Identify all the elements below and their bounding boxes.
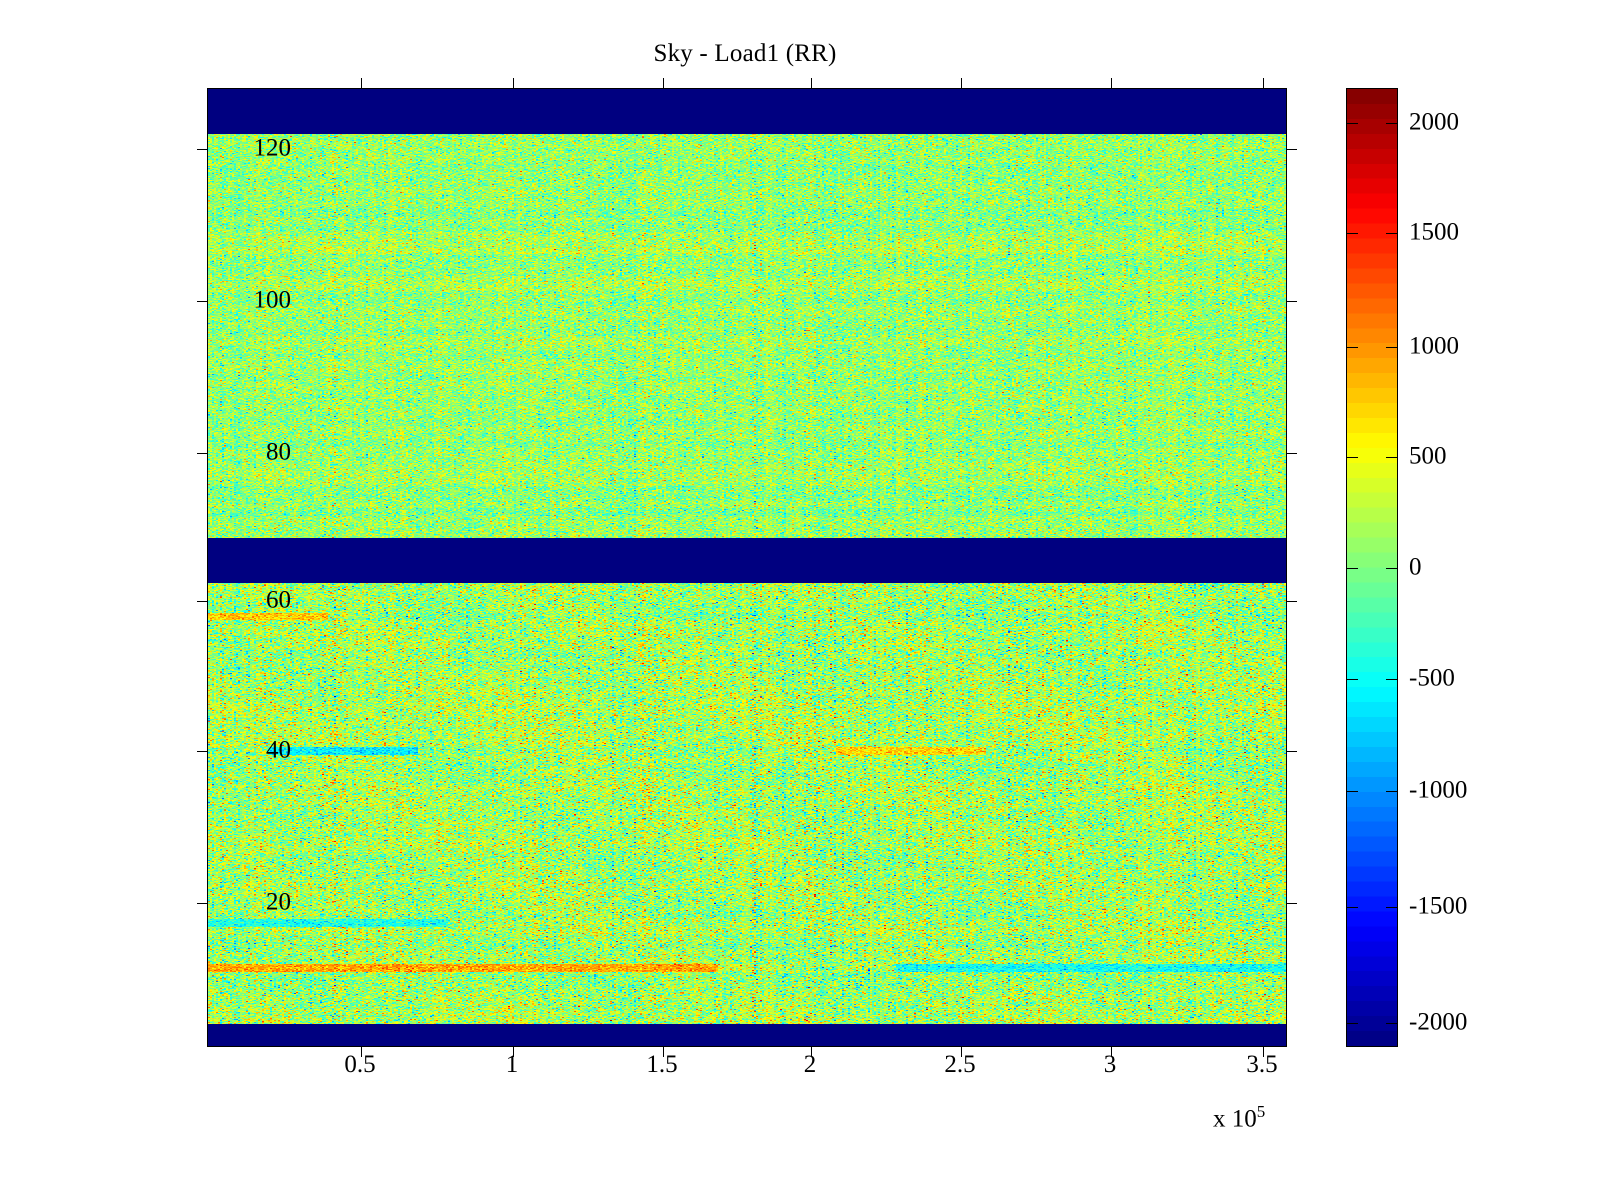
- colorbar-tick-mark: [1347, 233, 1358, 234]
- y-tick-mark-right: [1286, 149, 1297, 150]
- colorbar-tick-mark-right: [1386, 791, 1397, 792]
- colorbar-tick-label: -500: [1409, 666, 1455, 691]
- x-tick-mark-top: [811, 78, 812, 89]
- x-axis-exponent-label: x 105: [1213, 1103, 1265, 1131]
- y-tick-mark-right: [1286, 903, 1297, 904]
- x-tick-mark-top: [663, 78, 664, 89]
- colorbar-tick-mark: [1347, 347, 1358, 348]
- colorbar-tick-mark: [1347, 907, 1358, 908]
- plot-title: Sky - Load1 (RR): [0, 41, 1490, 66]
- heatmap-pixels: [208, 89, 1286, 1046]
- y-tick-label: 100: [254, 288, 292, 313]
- y-tick-mark: [197, 751, 208, 752]
- colorbar-tick-mark-right: [1386, 457, 1397, 458]
- colorbar-tick-mark-right: [1386, 233, 1397, 234]
- x-tick-label: 1: [506, 1052, 519, 1077]
- y-tick-mark-right: [1286, 453, 1297, 454]
- y-tick-label: 120: [254, 136, 292, 161]
- x-tick-mark-top: [1263, 78, 1264, 89]
- colorbar-tick-mark: [1347, 679, 1358, 680]
- colorbar-tick-mark-right: [1386, 907, 1397, 908]
- x-tick-label: 1.5: [646, 1052, 677, 1077]
- x-tick-label: 0.5: [344, 1052, 375, 1077]
- y-tick-mark: [197, 601, 208, 602]
- colorbar-tick-label: 2000: [1409, 110, 1459, 135]
- x-tick-label: 2.5: [944, 1052, 975, 1077]
- y-tick-label: 60: [266, 588, 291, 613]
- colorbar-tick-label: 1000: [1409, 334, 1459, 359]
- heatmap-image: [208, 89, 1286, 1046]
- x-exponent-power: 5: [1257, 1102, 1266, 1121]
- colorbar-tick-mark-right: [1386, 1023, 1397, 1024]
- colorbar-tick-label: 0: [1409, 555, 1422, 580]
- colorbar-tick-mark: [1347, 457, 1358, 458]
- y-tick-label: 40: [266, 738, 291, 763]
- x-exponent-base: x 10: [1213, 1105, 1257, 1132]
- colorbar-tick-label: -1000: [1409, 778, 1467, 803]
- x-tick-mark-top: [1111, 78, 1112, 89]
- colorbar-tick-mark: [1347, 568, 1358, 569]
- x-tick-mark-top: [961, 78, 962, 89]
- x-tick-mark-top: [361, 78, 362, 89]
- y-tick-mark: [197, 903, 208, 904]
- y-tick-label: 80: [266, 440, 291, 465]
- colorbar-tick-mark-right: [1386, 123, 1397, 124]
- heatmap-axes[interactable]: [207, 88, 1287, 1047]
- colorbar-tick-mark-right: [1386, 347, 1397, 348]
- x-tick-label: 3.5: [1246, 1052, 1277, 1077]
- colorbar-tick-mark: [1347, 791, 1358, 792]
- colorbar[interactable]: [1346, 88, 1398, 1047]
- colorbar-tick-label: 1500: [1409, 220, 1459, 245]
- y-tick-mark: [197, 301, 208, 302]
- y-tick-mark-right: [1286, 601, 1297, 602]
- colorbar-tick-mark-right: [1386, 679, 1397, 680]
- y-tick-label: 20: [266, 890, 291, 915]
- y-tick-mark-right: [1286, 751, 1297, 752]
- colorbar-tick-mark: [1347, 123, 1358, 124]
- y-tick-mark: [197, 149, 208, 150]
- colorbar-tick-label: -2000: [1409, 1010, 1467, 1035]
- y-tick-mark: [197, 453, 208, 454]
- x-tick-mark-top: [513, 78, 514, 89]
- colorbar-tick-mark-right: [1386, 568, 1397, 569]
- colorbar-tick-label: 500: [1409, 444, 1447, 469]
- x-tick-label: 3: [1104, 1052, 1117, 1077]
- figure-canvas: Sky - Load1 (RR) 12010080604020 0.511.52…: [0, 0, 1600, 1200]
- x-tick-label: 2: [804, 1052, 817, 1077]
- colorbar-tick-label: -1500: [1409, 894, 1467, 919]
- y-tick-mark-right: [1286, 301, 1297, 302]
- colorbar-tick-mark: [1347, 1023, 1358, 1024]
